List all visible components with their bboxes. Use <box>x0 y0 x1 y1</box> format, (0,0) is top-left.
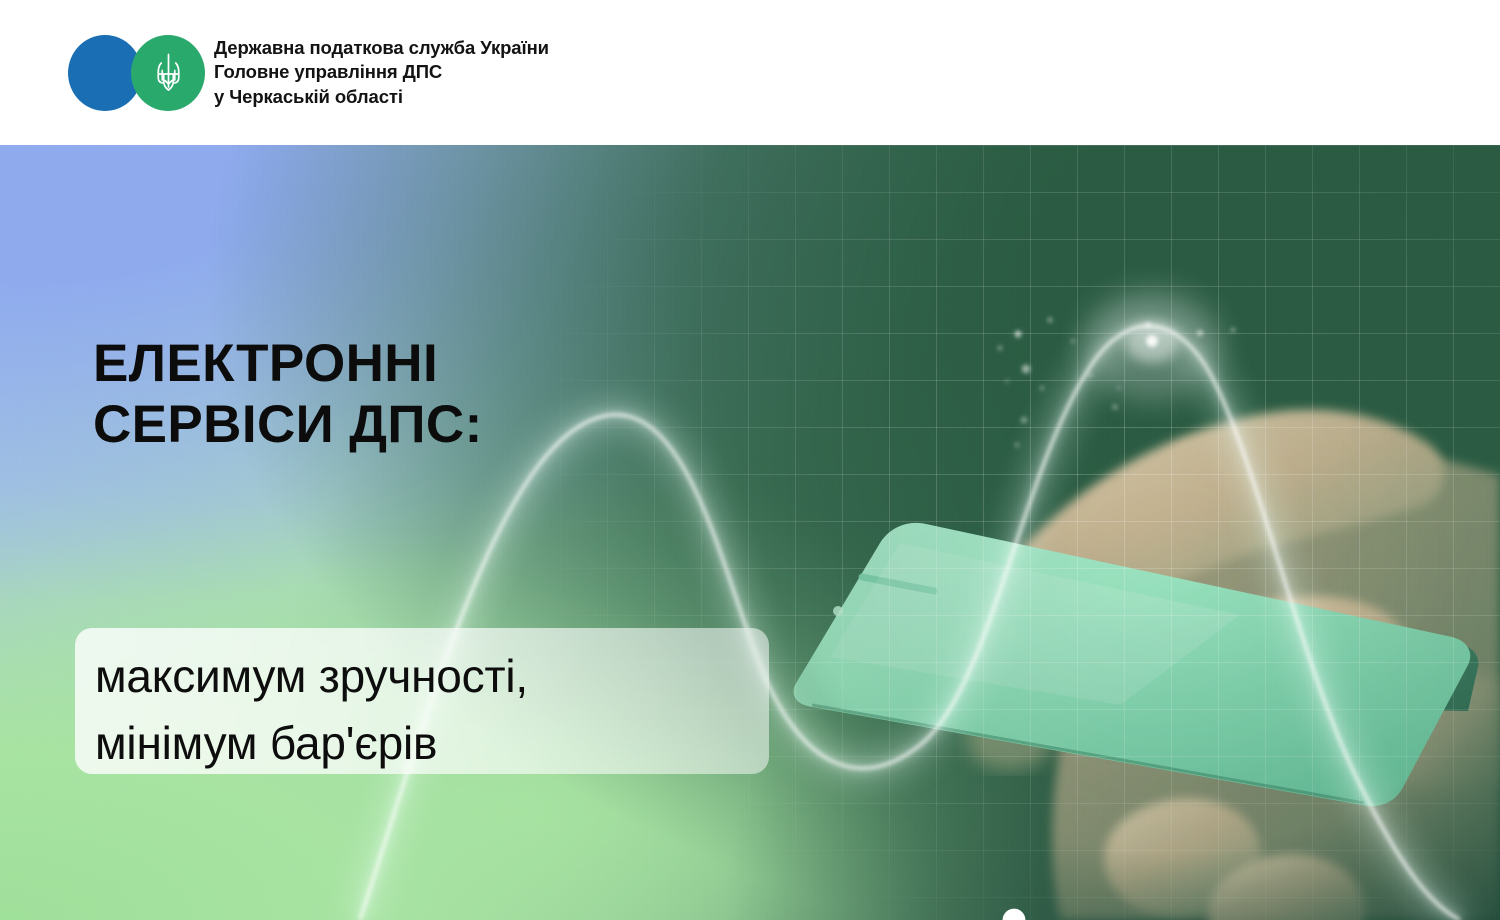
title-line-2: СЕРВІСИ ДПС: <box>93 394 483 455</box>
subtitle-line-2: мінімум бар'єрів <box>95 710 795 777</box>
organization-name: Державна податкова служба України Головн… <box>214 36 549 109</box>
wave-crest-glow <box>1090 297 1214 393</box>
org-line-1: Державна податкова служба України <box>214 36 549 60</box>
title-line-1: ЕЛЕКТРОННІ <box>93 334 438 393</box>
six-dot-ring-icon <box>978 907 1050 920</box>
bezbariernist-label: безбар’єрність <box>1066 915 1480 920</box>
subtitle-line-1: максимум зручності, <box>95 650 528 702</box>
header-bar: Державна податкова служба України Головн… <box>0 0 1500 145</box>
bezbariernist-logo: безбар’єрність <box>978 907 1480 920</box>
organization-brand: Державна податкова служба України Головн… <box>0 35 549 111</box>
hero-banner: ЕЛЕКТРОННІ СЕРВІСИ ДПС: максимум зручнос… <box>0 145 1500 920</box>
glowing-sine-wave <box>0 145 1500 920</box>
banner-canvas: Державна податкова служба України Головн… <box>0 0 1500 920</box>
trident-icon <box>156 51 181 95</box>
dps-logo <box>68 35 204 111</box>
subtitle-text: максимум зручності, мінімум бар'єрів <box>95 643 795 777</box>
page-title: ЕЛЕКТРОННІ СЕРВІСИ ДПС: <box>93 333 483 456</box>
org-line-2: Головне управління ДПС <box>214 60 549 84</box>
org-line-3: у Черкаській області <box>214 85 549 109</box>
